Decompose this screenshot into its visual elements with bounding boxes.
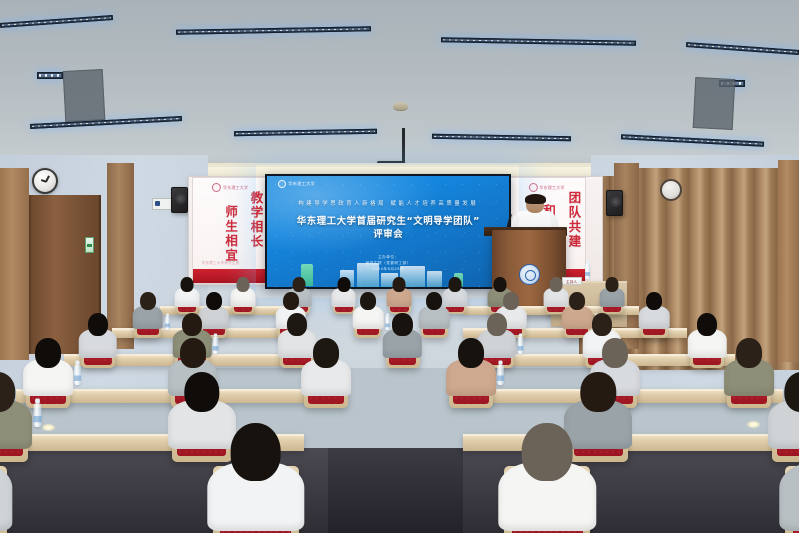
audience-member-head	[88, 313, 108, 336]
university-seal-icon	[212, 183, 221, 192]
audience-member-head	[569, 292, 585, 310]
audience-member	[78, 313, 118, 354]
audience-member-head	[393, 277, 406, 292]
banner-left-logo-text: 华东理工大学	[223, 185, 248, 191]
audience-member-head	[592, 313, 612, 336]
audience-member-head	[522, 423, 573, 481]
slide-logo: 华东理工大学	[278, 180, 315, 188]
downlight	[42, 424, 55, 431]
audience-member-head	[449, 277, 462, 292]
audience-member-head	[503, 292, 519, 310]
audience-member-head	[602, 338, 628, 368]
water-bottle	[517, 337, 523, 354]
audience-member-head	[313, 338, 339, 368]
audience-member	[418, 292, 450, 326]
projection-screen: 华东理工大学 构建导学思政育人新格局 赋能人才培养高质量发展 华东理工大学首届研…	[265, 174, 511, 289]
slide-title: 华东理工大学首届研究生“文明导学团队” 评审会	[272, 215, 504, 242]
audience-member-head	[140, 292, 156, 310]
ceiling-light-5	[37, 72, 63, 79]
exit-sign-icon	[85, 237, 94, 253]
audience-member-torso	[779, 462, 799, 530]
audience-member	[132, 292, 164, 326]
banner-left-footer: 华东理工大学研究生院	[202, 260, 240, 265]
banner-right-line1: 团队共建	[567, 191, 580, 249]
audience-member	[205, 423, 306, 521]
ceiling-vent-right	[692, 77, 735, 130]
slide-title-line1: 华东理工大学首届研究生“文明导学团队”	[272, 215, 504, 229]
audience-member	[445, 338, 497, 391]
banner-left-line1: 教学相长	[249, 191, 262, 249]
audience-member-head	[180, 277, 193, 292]
banner-left-line2: 师生相宜	[224, 205, 237, 263]
audience-member-head	[392, 313, 412, 336]
audience-member-head	[206, 292, 222, 310]
water-bottle	[497, 365, 504, 385]
audience-member	[387, 277, 413, 305]
banner-left: 华东理工大学 教学相长 师生相宜 华东理工大学研究生院	[192, 177, 269, 284]
audience-member-head	[230, 423, 281, 481]
slide-title-line2: 评审会	[272, 228, 504, 242]
audience-member-head	[458, 338, 484, 368]
audience-member-head	[337, 277, 350, 292]
audience-member	[174, 277, 200, 305]
presentation-slide: 华东理工大学 构建导学思政育人新格局 赋能人才培养高质量发展 华东理工大学首届研…	[267, 176, 509, 287]
slide-building	[357, 263, 379, 286]
conference-room-photo: 华东理工大学 教学相长 师生相宜 华东理工大学研究生院 华东理工大学 团队共建 …	[0, 0, 799, 533]
audience-member-head	[35, 338, 61, 368]
university-seal-icon	[278, 180, 286, 188]
audience-member	[497, 423, 598, 521]
audience-member	[382, 313, 422, 354]
audience-member-head	[283, 292, 299, 310]
wall-speaker-right	[606, 190, 623, 216]
audience-member	[687, 313, 727, 354]
wall-speaker-left	[171, 187, 188, 213]
water-bottle	[34, 404, 42, 428]
banner-right-logo: 华东理工大学	[528, 183, 564, 192]
audience-member-head	[550, 277, 563, 292]
center-aisle	[328, 448, 464, 533]
audience-member	[230, 277, 256, 305]
audience-member	[300, 338, 352, 391]
audience-member-head	[236, 277, 249, 292]
banner-left-logo: 华东理工大学	[212, 183, 248, 192]
slide-building	[427, 271, 442, 287]
audience-member-head	[287, 313, 307, 336]
audience-member-head	[292, 277, 305, 292]
water-bottle	[585, 264, 590, 279]
audience-member-head	[646, 292, 662, 310]
banner-right-logo-text: 华东理工大学	[539, 185, 564, 191]
audience-member-torso	[0, 462, 13, 530]
audience-member	[638, 292, 670, 326]
audience-member-head	[184, 372, 219, 412]
audience-member-head	[606, 277, 619, 292]
audience-member-head	[494, 277, 507, 292]
slide-logo-text: 华东理工大学	[288, 181, 315, 187]
downlight	[747, 421, 760, 428]
slide-kicker-text: 构建导学思政育人新格局 赋能人才培养高质量发展	[267, 199, 509, 207]
audience-member	[599, 277, 625, 305]
audience-member-head	[697, 313, 717, 336]
audience-member-head	[736, 338, 762, 368]
presenter-hair	[525, 194, 546, 204]
audience-member-head	[581, 372, 616, 412]
audience-member-head	[487, 313, 507, 336]
water-bottle	[165, 316, 170, 330]
audience-member	[777, 423, 799, 521]
audience-member	[0, 423, 15, 521]
audience-member-head	[360, 292, 376, 310]
wood-wall-panel-right	[778, 160, 799, 363]
audience-member	[352, 292, 384, 326]
audience-member-head	[182, 313, 202, 336]
wood-wall-panel-left	[0, 168, 29, 360]
university-seal-icon	[528, 183, 537, 192]
audience-member-head	[180, 338, 206, 368]
water-bottle	[74, 365, 81, 385]
audience-member-head	[426, 292, 442, 310]
ceiling-vent-left	[63, 69, 106, 122]
